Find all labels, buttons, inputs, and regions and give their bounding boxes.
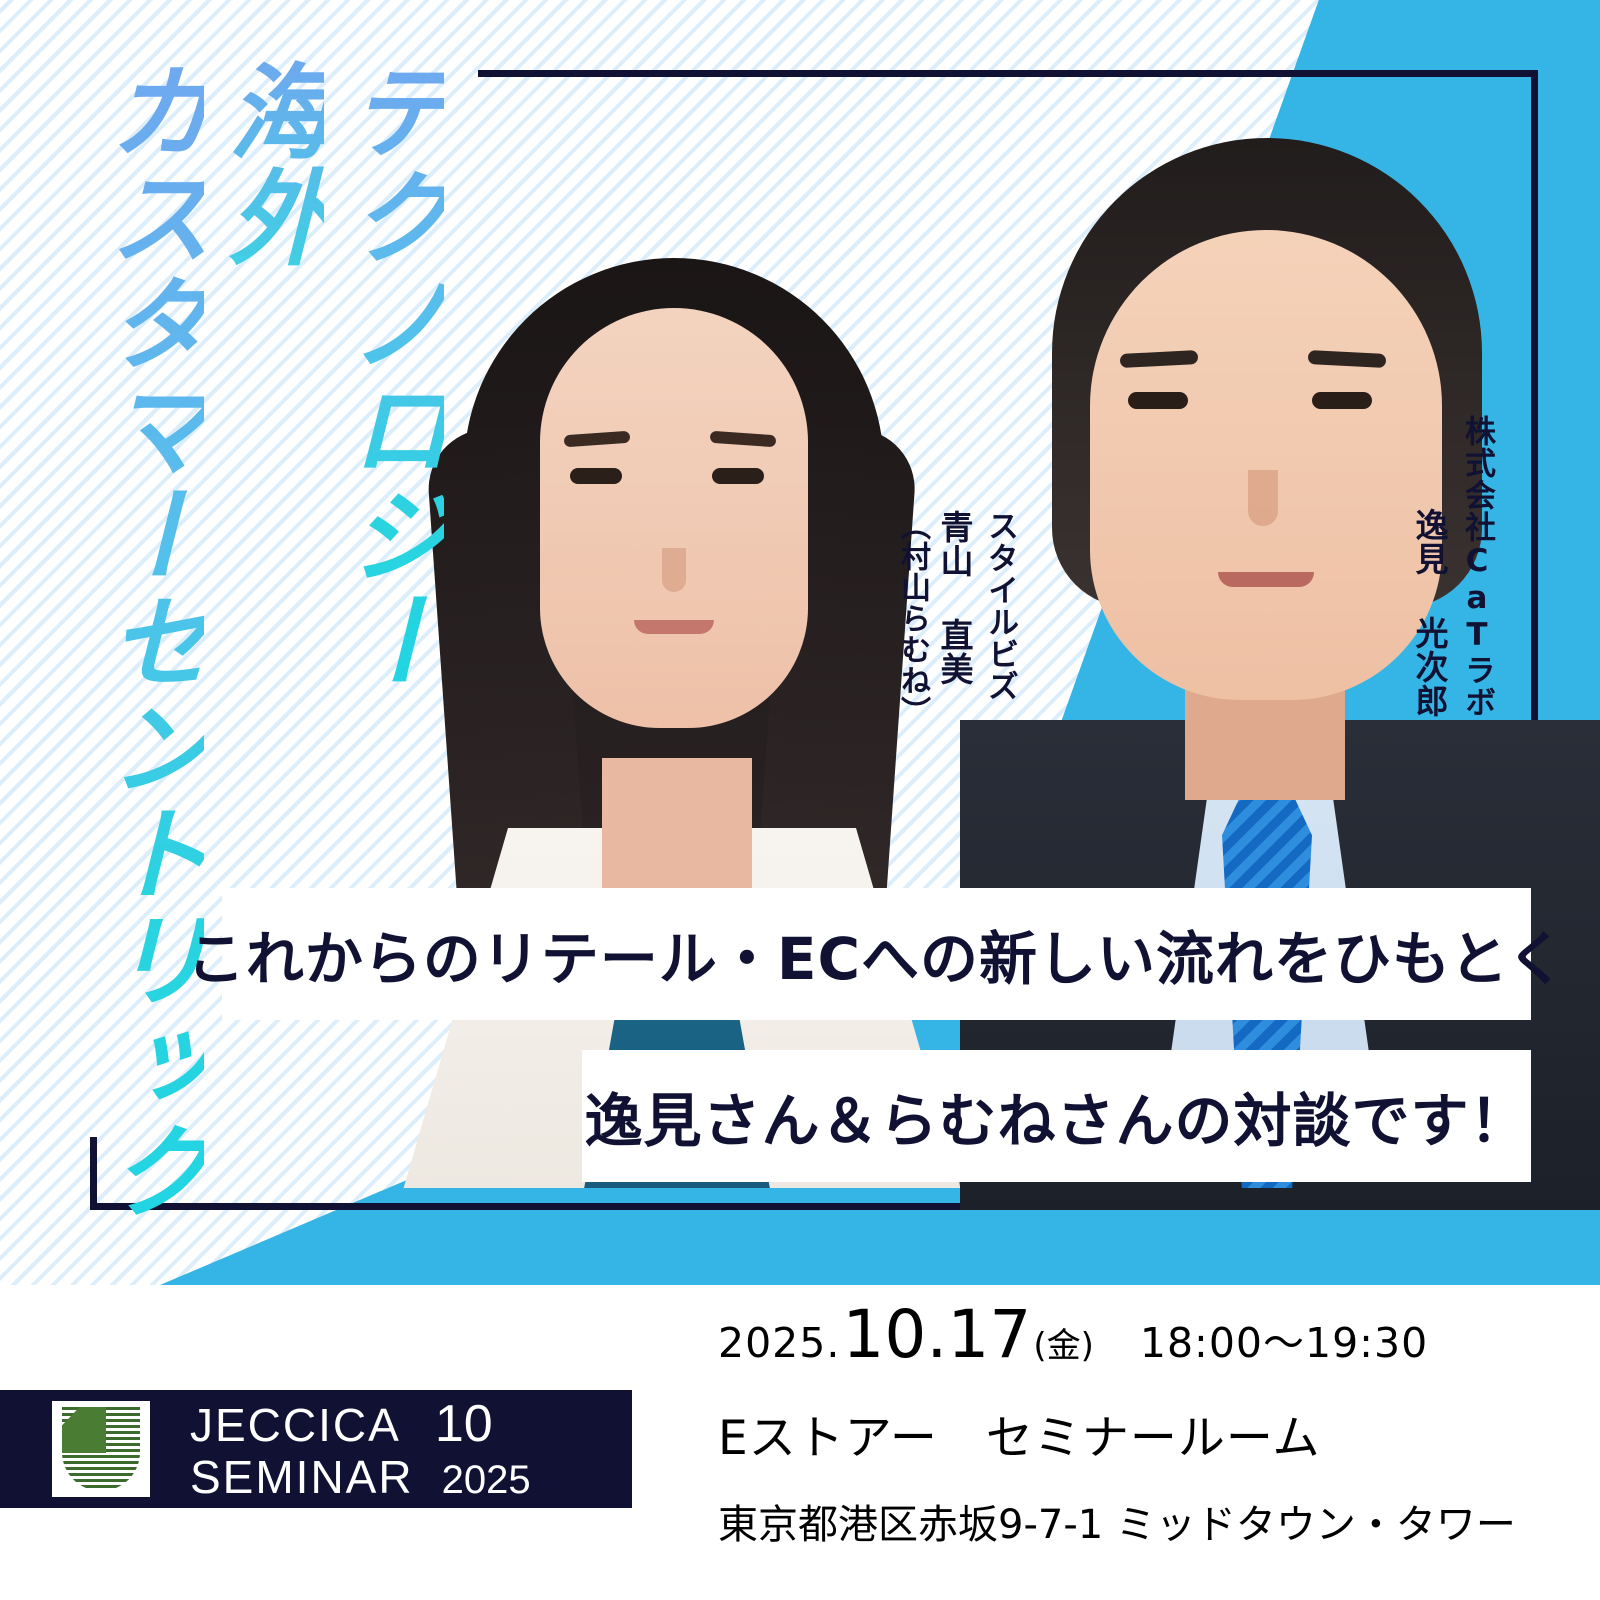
speaker-name-hemmi: 逸見 光次郎: [1405, 508, 1453, 718]
event-day-of-week: (金): [1033, 1318, 1094, 1367]
event-date-year: 2025.: [718, 1319, 840, 1367]
speaker-org-hemmi: 株式会社CaTラボ: [1455, 415, 1500, 718]
speaker-alias-aoyama: （村山らむね）: [890, 510, 934, 727]
headline-bar-secondary: 逸見さん＆らむねさんの対談です！: [582, 1050, 1531, 1182]
logo-month-number: 10: [435, 1398, 493, 1450]
event-time: 18:00〜19:30: [1140, 1309, 1428, 1369]
vertical-title-line-2: 海外: [218, 58, 324, 270]
jeccica-seminar-logo: JECCICA 10 SEMINAR 2025: [0, 1390, 632, 1508]
logo-wordmark: JECCICA 10 SEMINAR 2025: [190, 1398, 531, 1500]
logo-year-number: 2025: [442, 1460, 531, 1500]
event-venue: Eストアー セミナールーム: [718, 1399, 1578, 1468]
headline-bar-primary: これからのリテール・ECへの新しい流れをひもとく: [222, 888, 1531, 1020]
frame-rule-top: [478, 70, 1538, 77]
poster-hero: テクノロジー 海外 カスタマーセントリック スタイルビズ 青山 直美 （村山らむ…: [0, 0, 1600, 1285]
event-address: 東京都港区赤坂9-7-1 ミッドタウン・タワー: [718, 1492, 1578, 1550]
speaker-photo-hemmi: [960, 120, 1600, 1210]
jeccica-shield-icon: [52, 1401, 150, 1497]
speaker-photo-aoyama: [372, 228, 1052, 1188]
vertical-title-line-3: カスタマーセントリック: [98, 58, 204, 1224]
event-date-row: 2025. 10.17 (金) 18:00〜19:30: [718, 1296, 1578, 1373]
vertical-title-line-1: テクノロジー: [338, 58, 444, 694]
speaker-org-aoyama: スタイルビズ: [978, 510, 1023, 702]
logo-jeccica-text: JECCICA: [190, 1402, 401, 1448]
event-date-month-day: 10.17: [842, 1296, 1031, 1373]
logo-seminar-text: SEMINAR: [190, 1454, 414, 1500]
speaker-name-aoyama: 青山 直美: [930, 510, 978, 686]
event-details: 2025. 10.17 (金) 18:00〜19:30 Eストアー セミナールー…: [718, 1296, 1578, 1550]
